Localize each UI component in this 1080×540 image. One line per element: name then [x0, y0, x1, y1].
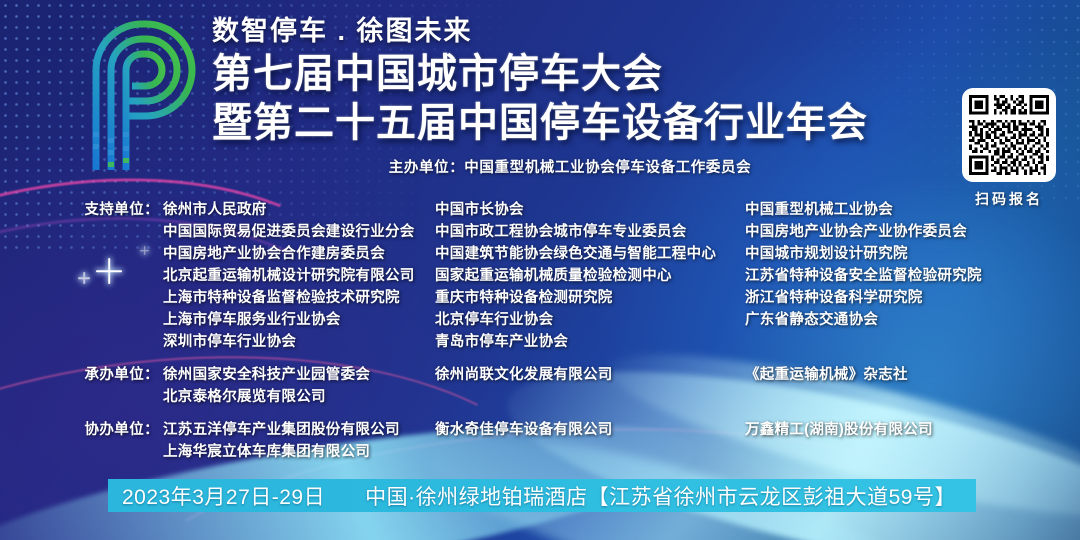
support-row-4: 北京起重运输机械设计研究院有限公司 国家起重运输机械质量检验检测中心 江苏省特种…	[0, 264, 1080, 286]
conference-banner: 数智停车 . 徐图未来 第七届中国城市停车大会 暨第二十五届中国停车设备行业年会…	[0, 0, 1080, 540]
support-units-block: 支持单位： 徐州市人民政府 中国市长协会 中国重型机械工业协会 中国国际贸易促进…	[0, 198, 1080, 352]
support-col1: 上海市停车服务业行业协会	[163, 308, 435, 329]
support-col1: 深圳市停车行业协会	[163, 330, 435, 351]
footer-bar: 2023年3月27日-29日 中国·徐州绿地铂瑞酒店【江苏省徐州市云龙区彭祖大道…	[108, 479, 976, 512]
event-date: 2023年3月27日-29日	[108, 481, 325, 511]
organizer-units-block: 承办单位： 徐州国家安全科技产业园管委会 徐州尚联文化发展有限公司 《起重运输机…	[0, 363, 1080, 407]
organizer-col3: 《起重运输机械》杂志社	[745, 363, 1045, 384]
support-col3: 中国城市规划设计研究院	[745, 242, 1045, 263]
support-col2: 中国市政工程协会城市停车专业委员会	[435, 220, 745, 241]
support-col2: 中国市长协会	[435, 198, 745, 219]
support-row-2: 中国国际贸易促进委员会建设行业分会 中国市政工程协会城市停车专业委员会 中国房地…	[0, 220, 1080, 242]
support-units-label: 支持单位：	[0, 198, 163, 219]
coorganizer-col2: 衡水奇佳停车设备有限公司	[435, 418, 745, 439]
support-col2: 中国建筑节能协会绿色交通与智能工程中心	[435, 242, 745, 263]
support-row-6: 上海市停车服务业行业协会 北京停车行业协会 广东省静态交通协会	[0, 308, 1080, 330]
support-col1: 北京起重运输机械设计研究院有限公司	[163, 264, 435, 285]
organizer-units-label: 承办单位：	[0, 363, 163, 384]
section-gap	[0, 352, 1080, 363]
parking-p-logo-icon	[84, 12, 210, 170]
support-row-5: 上海市特种设备监督检验技术研究院 重庆市特种设备检测研究院 浙江省特种设备科学研…	[0, 286, 1080, 308]
organizer-col2: 徐州尚联文化发展有限公司	[435, 363, 745, 384]
support-col3: 中国重型机械工业协会	[745, 198, 1045, 219]
support-col1: 中国房地产业协会合作建房委员会	[163, 242, 435, 263]
support-col3: 中国房地产业协会产业协作委员会	[745, 220, 1045, 241]
support-row-7: 深圳市停车行业协会 青岛市停车产业协会	[0, 330, 1080, 352]
tagline: 数智停车 . 徐图未来	[212, 16, 912, 47]
event-venue: 中国·徐州绿地铂瑞酒店【江苏省徐州市云龙区彭祖大道59号】	[325, 481, 956, 511]
qr-code-icon[interactable]	[962, 88, 1056, 182]
units-section: 支持单位： 徐州市人民政府 中国市长协会 中国重型机械工业协会 中国国际贸易促进…	[0, 198, 1080, 462]
support-col2: 青岛市停车产业协会	[435, 330, 745, 351]
coorganizer-units-label: 协办单位：	[0, 418, 163, 439]
host-organization-line: 主办单位：中国重型机械工业协会停车设备工作委员会	[212, 156, 912, 177]
support-col2: 国家起重运输机械质量检验检测中心	[435, 264, 745, 285]
coorganizer-col1: 江苏五洋停车产业集团股份有限公司	[163, 418, 435, 439]
support-col3: 浙江省特种设备科学研究院	[745, 286, 1045, 307]
support-col3: 广东省静态交通协会	[745, 308, 1045, 329]
support-col1: 中国国际贸易促进委员会建设行业分会	[163, 220, 435, 241]
coorganizer-col1: 上海华宸立体车库集团有限公司	[163, 440, 435, 461]
qr-registration-block[interactable]: 扫码报名	[962, 88, 1056, 209]
organizer-row-2: 北京泰格尔展览有限公司	[0, 385, 1080, 407]
organizer-row-1: 承办单位： 徐州国家安全科技产业园管委会 徐州尚联文化发展有限公司 《起重运输机…	[0, 363, 1080, 385]
organizer-col1: 北京泰格尔展览有限公司	[163, 385, 435, 406]
section-gap	[0, 407, 1080, 418]
support-row-1: 支持单位： 徐州市人民政府 中国市长协会 中国重型机械工业协会	[0, 198, 1080, 220]
support-col1: 徐州市人民政府	[163, 198, 435, 219]
coorganizer-row-2: 上海华宸立体车库集团有限公司	[0, 440, 1080, 462]
support-col1: 上海市特种设备监督检验技术研究院	[163, 286, 435, 307]
organizer-col1: 徐州国家安全科技产业园管委会	[163, 363, 435, 384]
support-col2: 北京停车行业协会	[435, 308, 745, 329]
main-title-line-1: 第七届中国城市停车大会	[212, 51, 912, 98]
coorganizer-units-block: 协办单位： 江苏五洋停车产业集团股份有限公司 衡水奇佳停车设备有限公司 万鑫精工…	[0, 418, 1080, 462]
support-col3: 江苏省特种设备安全监督检验研究院	[745, 264, 1045, 285]
support-col2: 重庆市特种设备检测研究院	[435, 286, 745, 307]
main-title-line-2: 暨第二十五届中国停车设备行业年会	[212, 100, 912, 147]
support-row-3: 中国房地产业协会合作建房委员会 中国建筑节能协会绿色交通与智能工程中心 中国城市…	[0, 242, 1080, 264]
coorganizer-col3: 万鑫精工(湖南)股份有限公司	[745, 418, 1045, 439]
title-block: 数智停车 . 徐图未来 第七届中国城市停车大会 暨第二十五届中国停车设备行业年会…	[212, 16, 912, 177]
coorganizer-row-1: 协办单位： 江苏五洋停车产业集团股份有限公司 衡水奇佳停车设备有限公司 万鑫精工…	[0, 418, 1080, 440]
